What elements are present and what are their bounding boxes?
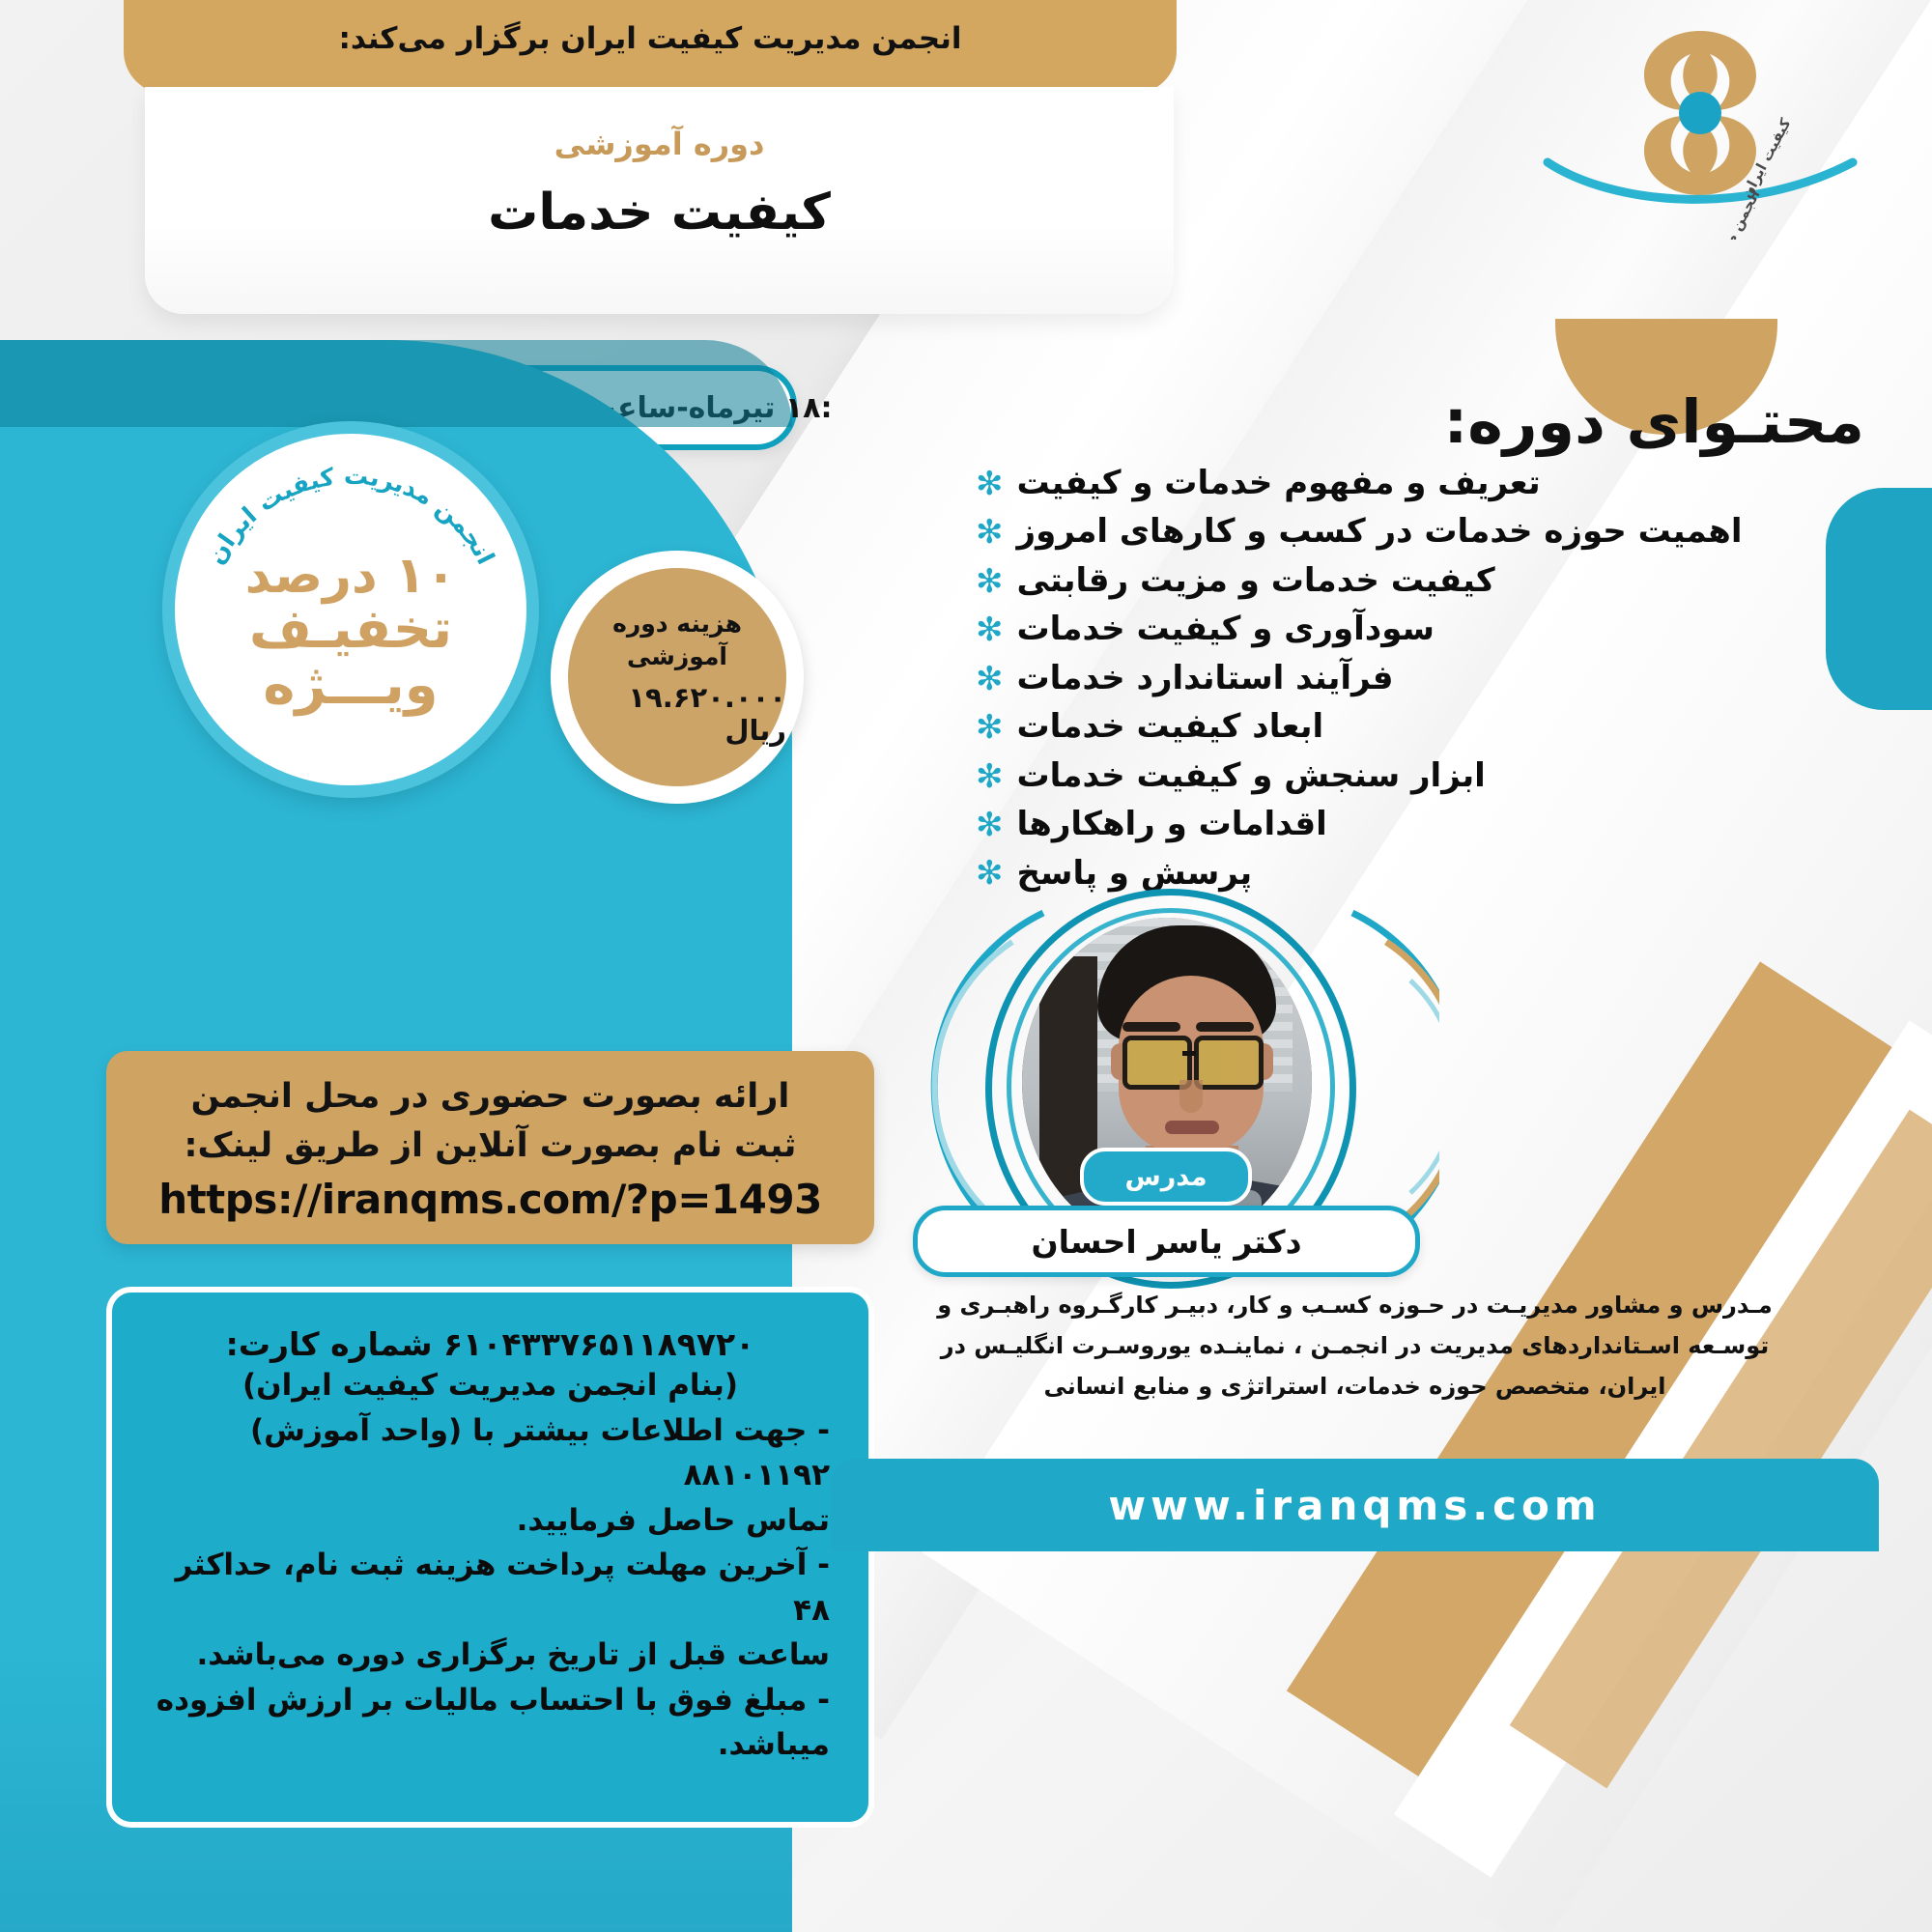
payment-note-3: ساعت قبل از تاریخ برگزاری دوره می‌باشد. [151, 1633, 830, 1678]
list-item: ✻ ابزار سنجش و کیفیت خدمات [976, 756, 1864, 796]
payment-note-4: - مبلغ فوق با احتساب مالیات بر ارزش افزو… [151, 1678, 830, 1768]
list-item-label: فرآیند استاندارد خدمات [1017, 659, 1394, 698]
discount-badge: انجمن مدیریت کیفیت ایران ۱۰ درصد تخفیـف … [162, 421, 539, 798]
list-item: ✻ اهمیت حوزه خدمات در کسب و کارهای امروز [976, 512, 1864, 552]
asterisk-icon: ✻ [976, 663, 1004, 696]
organizer-line: انجمن مدیریت کیفیت ایران برگزار می‌کند: [124, 21, 1177, 56]
list-item-label: ابزار سنجش و کیفیت خدمات [1017, 756, 1486, 796]
price-label: هزینه دوره آموزشی [568, 608, 786, 673]
payment-note-2: - آخرین مهلت پرداخت هزینه ثبت نام، حداکث… [151, 1543, 830, 1633]
list-item: ✻ تعریف و مفهوم خدمات و کیفیت [976, 464, 1864, 503]
instructor-name: دکتر یاسر احسان [1031, 1223, 1301, 1261]
header-gold-bar: انجمن مدیریت کیفیت ایران برگزار می‌کند: [124, 0, 1177, 94]
registration-link[interactable]: https://iranqms.com/?p=1493 [158, 1176, 822, 1223]
title-card: دوره آموزشی کیفیت خدمات [145, 87, 1174, 314]
list-item-label: تعریف و مفهوم خدمات و کیفیت [1017, 464, 1541, 503]
card-number-value: ۶۱۰۴۳۳۷۶۵۱۱۸۹۷۲۰ [443, 1325, 754, 1363]
account-name: (بنام انجمن مدیریت کیفیت ایران) [151, 1363, 830, 1408]
discount-word: تخفیـف [249, 602, 452, 657]
list-item-label: سودآوری و کیفیت خدمات [1017, 610, 1435, 649]
registration-box: ارائه بصورت حضوری در محل انجمن ثبت نام ب… [106, 1051, 874, 1244]
asterisk-icon: ✻ [976, 468, 1004, 500]
instructor-bio-line-0: مـدرس و مشاور مدیریـت در حـوزه کسـب و کا… [831, 1285, 1879, 1325]
asterisk-icon: ✻ [976, 711, 1004, 744]
teal-panel-shadow [0, 340, 792, 427]
footer-bar: www.iranqms.com [831, 1459, 1879, 1551]
asterisk-icon: ✻ [976, 565, 1004, 598]
asterisk-icon: ✻ [976, 613, 1004, 646]
asterisk-icon: ✻ [976, 516, 1004, 549]
list-item-label: اقدامات و راهکارها [1017, 805, 1327, 844]
payment-note-1: تماس حاصل فرمایید. [151, 1498, 830, 1544]
instructor-bio-line-2: ایران، متخصص حوزه خدمات، استراتژی و مناب… [831, 1366, 1879, 1406]
iranqms-logo: کیفیت ایران انجمن مدیریت [1528, 17, 1876, 240]
asterisk-icon: ✻ [976, 760, 1004, 793]
registration-line-2: ثبت نام بصورت آنلاین از طریق لینک: [185, 1122, 797, 1171]
course-content-list: ✻ تعریف و مفهوم خدمات و کیفیت ✻ اهمیت حو… [976, 464, 1864, 902]
instructor-role-label: مدرس [1124, 1162, 1207, 1192]
list-item: ✻ ابعاد کیفیت خدمات [976, 707, 1864, 747]
asterisk-icon: ✻ [976, 809, 1004, 841]
list-item-label: اهمیت حوزه خدمات در کسب و کارهای امروز [1017, 512, 1743, 552]
page-title: کیفیت خدمات [145, 184, 1174, 241]
discount-special: ویـــژه [263, 658, 438, 713]
website-url[interactable]: www.iranqms.com [1108, 1482, 1601, 1529]
list-item: ✻ سودآوری و کیفیت خدمات [976, 610, 1864, 649]
card-number-label: شماره کارت: [226, 1325, 433, 1363]
instructor-name-pill: دکتر یاسر احسان [913, 1206, 1420, 1277]
list-item-label: ابعاد کیفیت خدمات [1017, 707, 1324, 747]
instructor-bio-line-1: توسـعه اسـتانداردهای مدیریت در انجمـن ، … [831, 1325, 1879, 1366]
payment-info-box: ۶۱۰۴۳۳۷۶۵۱۱۸۹۷۲۰ شماره کارت: (بنام انجمن… [106, 1287, 874, 1828]
card-number-line: ۶۱۰۴۳۳۷۶۵۱۱۸۹۷۲۰ شماره کارت: [151, 1325, 830, 1363]
course-kicker: دوره آموزشی [145, 126, 1174, 162]
list-item: ✻ اقدامات و راهکارها [976, 805, 1864, 844]
list-item: ✻ فرآیند استاندارد خدمات [976, 659, 1864, 698]
payment-note-0: - جهت اطلاعات بیشتر با (واحد آموزش) ۸۸۱۰… [151, 1408, 830, 1498]
price-value: ۱۹.۶۲۰.۰۰۰ ریال [568, 681, 786, 747]
price-badge: هزینه دوره آموزشی ۱۹.۶۲۰.۰۰۰ ریال [568, 568, 786, 786]
instructor-bio: مـدرس و مشاور مدیریـت در حـوزه کسـب و کا… [831, 1285, 1879, 1406]
course-content-heading: محتـوای دوره: [976, 386, 1864, 457]
poster-root: انجمن مدیریت کیفیت ایران برگزار می‌کند: … [0, 0, 1932, 1932]
registration-line-1: ارائه بصورت حضوری در محل انجمن [191, 1072, 790, 1122]
list-item-label: کیفیت خدمات و مزیت رقابتی [1017, 561, 1495, 601]
discount-percent: ۱۰ درصد [245, 551, 457, 602]
list-item: ✻ کیفیت خدمات و مزیت رقابتی [976, 561, 1864, 601]
status-badge: مدرس [1080, 1148, 1252, 1206]
